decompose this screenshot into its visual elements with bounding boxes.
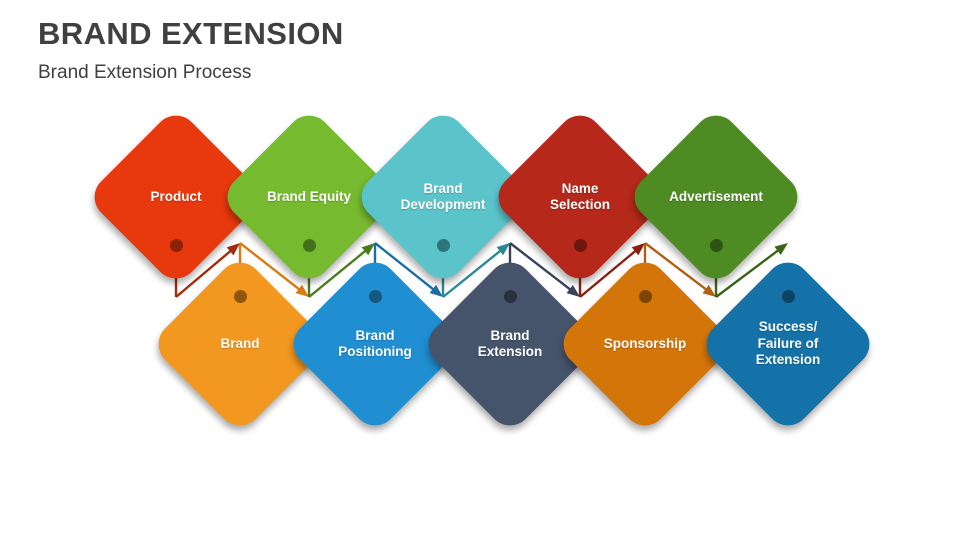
node-dot-sponsorship <box>639 290 652 303</box>
node-sponsorship[interactable]: Sponsorship <box>581 280 709 408</box>
node-dot-brand-equity <box>303 239 316 252</box>
node-dot-success-failure-of-extension <box>782 290 795 303</box>
node-dot-brand <box>234 290 247 303</box>
node-name-selection[interactable]: NameSelection <box>516 133 644 261</box>
node-success-failure-of-extension[interactable]: Success/Failure ofExtension <box>724 280 852 408</box>
node-brand-equity[interactable]: Brand Equity <box>245 133 373 261</box>
connector-layer <box>0 0 960 540</box>
node-diamond-success-failure-of-extension <box>697 253 878 434</box>
node-brand-positioning[interactable]: BrandPositioning <box>311 280 439 408</box>
node-dot-brand-positioning <box>369 290 382 303</box>
node-dot-brand-extension <box>504 290 517 303</box>
node-diamond-advertisement <box>625 106 806 287</box>
slide-canvas: BRAND EXTENSION Brand Extension Process … <box>0 0 960 540</box>
node-dot-product <box>170 239 183 252</box>
node-dot-brand-development <box>437 239 450 252</box>
node-brand-development[interactable]: BrandDevelopment <box>379 133 507 261</box>
brand-extension-process-diagram: ProductBrand EquityBrandDevelopmentNameS… <box>0 0 960 540</box>
node-dot-advertisement <box>710 239 723 252</box>
node-brand-extension[interactable]: BrandExtension <box>446 280 574 408</box>
node-brand[interactable]: Brand <box>176 280 304 408</box>
node-dot-name-selection <box>574 239 587 252</box>
node-product[interactable]: Product <box>112 133 240 261</box>
node-advertisement[interactable]: Advertisement <box>652 133 780 261</box>
